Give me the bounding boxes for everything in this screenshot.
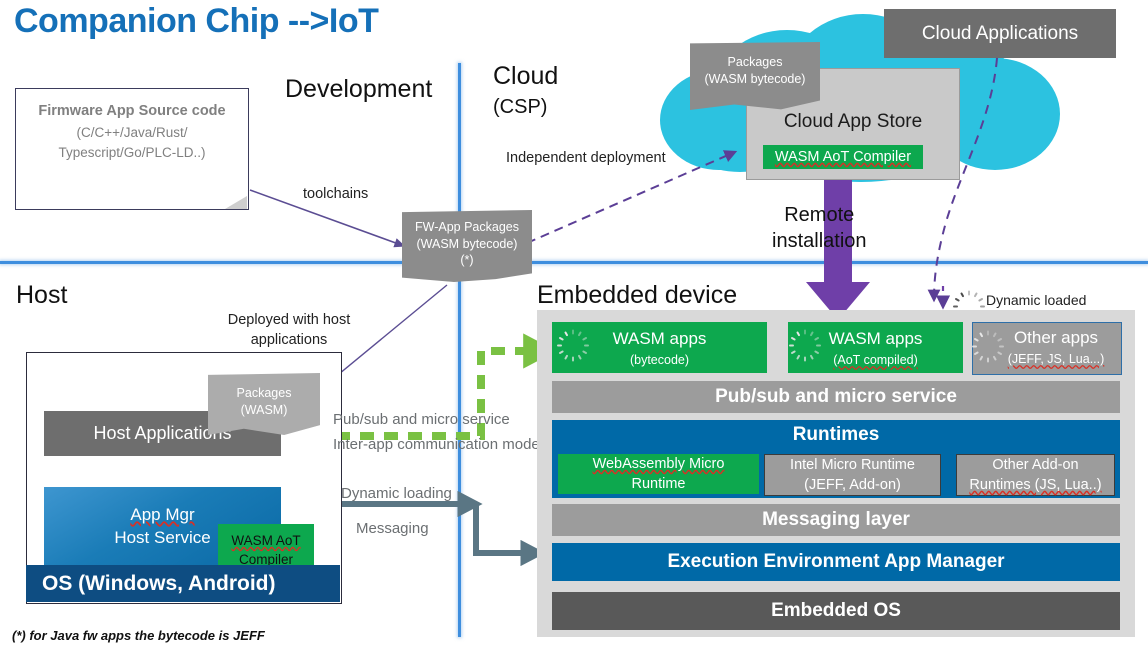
host-packages-callout: Packages (WASM) xyxy=(208,373,320,435)
firmware-source-box: Firmware App Source code (C/C++/Java/Rus… xyxy=(15,88,249,210)
label-remote-installation: Remote installation xyxy=(772,202,867,254)
cloud-wasm-aot-compiler-label: WASM AoT Compiler xyxy=(775,149,911,165)
label-dynamic-loading: Dynamic loading xyxy=(341,485,452,502)
spinner-icon-app-0 xyxy=(562,328,584,350)
spinner-icon-app-2 xyxy=(977,329,999,351)
embedded-pubsub-band[interactable]: Pub/sub and micro service xyxy=(552,381,1120,413)
firmware-source-line2: (C/C++/Java/Rust/ xyxy=(76,125,187,140)
embedded-runtime-0[interactable]: WebAssembly Micro Runtime xyxy=(558,454,759,494)
fw-app-packages-line1: FW-App Packages xyxy=(415,220,519,234)
embedded-app-2-sub: (JEFF, JS, Lua...) xyxy=(1008,352,1105,366)
embedded-pubsub-label: Pub/sub and micro service xyxy=(715,386,957,408)
section-heading-embedded: Embedded device xyxy=(537,281,737,310)
vertical-divider xyxy=(458,63,461,637)
embedded-messaging-layer-label: Messaging layer xyxy=(762,509,910,531)
embedded-runtime-2-line1: Other Add-on xyxy=(992,457,1078,473)
embedded-app-manager-band[interactable]: Execution Environment App Manager xyxy=(552,543,1120,581)
label-deployed-with-host-line1: Deployed with host xyxy=(228,312,351,328)
app-manager-line2: Host Service xyxy=(114,528,210,547)
section-heading-cloud-sub: (CSP) xyxy=(493,96,547,119)
footnote: (*) for Java fw apps the bytecode is JEF… xyxy=(12,628,265,643)
host-packages-line2: (WASM) xyxy=(241,403,288,417)
fw-app-packages-line3: (*) xyxy=(460,253,473,267)
label-deployed-with-host: Deployed with host applications xyxy=(219,310,359,351)
embedded-app-0-name: WASM apps xyxy=(613,329,707,348)
embedded-app-2[interactable]: Other apps (JEFF, JS, Lua...) xyxy=(972,322,1122,375)
embedded-runtime-1-line2: (JEFF, Add-on) xyxy=(804,477,901,493)
cloud-packages-line1: Packages xyxy=(728,55,783,69)
label-remote-installation-line2: installation xyxy=(772,230,867,252)
embedded-runtime-1-line1: Intel Micro Runtime xyxy=(790,457,915,473)
embedded-runtime-1[interactable]: Intel Micro Runtime (JEFF, Add-on) xyxy=(764,454,941,496)
dynamic-loaded-spinner-icon xyxy=(958,289,980,311)
embedded-app-1[interactable]: WASM apps (AoT compiled) xyxy=(788,322,963,373)
section-heading-cloud: Cloud xyxy=(493,62,558,91)
spinner-icon-app-1 xyxy=(794,328,816,350)
host-os-box[interactable]: OS (Windows, Android) xyxy=(26,565,340,602)
label-inter-app-communication: Inter-app communication models xyxy=(333,436,551,453)
embedded-runtime-0-line1: WebAssembly Micro xyxy=(593,456,725,472)
embedded-app-0-sub: (bytecode) xyxy=(630,353,689,367)
label-toolchains: toolchains xyxy=(303,186,368,202)
page-title: Companion Chip -->IoT xyxy=(14,2,378,41)
firmware-source-title: Firmware App Source code xyxy=(16,89,248,119)
embedded-runtime-2[interactable]: Other Add-on Runtimes (JS, Lua..) xyxy=(956,454,1115,496)
label-pubsub-micro-service: Pub/sub and micro service xyxy=(333,411,510,428)
cloud-wasm-aot-compiler-box[interactable]: WASM AoT Compiler xyxy=(763,145,923,169)
embedded-app-1-sub: (AoT compiled) xyxy=(833,353,918,367)
fw-app-packages-callout: FW-App Packages (WASM bytecode) (*) xyxy=(402,210,532,282)
label-deployed-with-host-line2: applications xyxy=(251,332,328,348)
embedded-runtimes-title: Runtimes xyxy=(552,420,1120,446)
label-remote-installation-line1: Remote xyxy=(784,204,854,226)
app-manager-line1: App Mgr xyxy=(130,505,194,524)
host-packages-line1: Packages xyxy=(237,386,292,400)
label-messaging: Messaging xyxy=(356,520,429,537)
host-os-label: OS (Windows, Android) xyxy=(26,572,276,596)
section-heading-host: Host xyxy=(16,281,67,310)
host-aot-line1: WASM AoT xyxy=(231,533,300,548)
fw-app-packages-line2: (WASM bytecode) xyxy=(417,237,518,251)
embedded-app-2-name: Other apps xyxy=(1014,328,1098,347)
embedded-app-manager-label: Execution Environment App Manager xyxy=(667,551,1004,573)
embedded-runtime-0-line2: Runtime xyxy=(632,476,686,492)
embedded-app-0[interactable]: WASM apps (bytecode) xyxy=(552,322,767,373)
embedded-app-1-name: WASM apps xyxy=(829,329,923,348)
cloud-applications-box[interactable]: Cloud Applications xyxy=(884,9,1116,58)
horizontal-divider xyxy=(0,261,1148,264)
cloud-applications-label: Cloud Applications xyxy=(922,23,1078,45)
label-independent-deployment: Independent deployment xyxy=(506,150,666,166)
embedded-runtime-2-line2: Runtimes (JS, Lua..) xyxy=(969,477,1101,493)
cloud-packages-callout: Packages (WASM bytecode) xyxy=(690,42,820,110)
firmware-source-line3: Typescript/Go/PLC-LD..) xyxy=(58,145,205,160)
embedded-os-label: Embedded OS xyxy=(771,600,901,622)
cloud-packages-line2: (WASM bytecode) xyxy=(705,72,806,86)
label-dynamic-loaded: Dynamic loaded xyxy=(986,292,1086,308)
embedded-messaging-layer-band[interactable]: Messaging layer xyxy=(552,504,1120,536)
section-heading-development: Development xyxy=(285,75,432,104)
embedded-os-band[interactable]: Embedded OS xyxy=(552,592,1120,630)
